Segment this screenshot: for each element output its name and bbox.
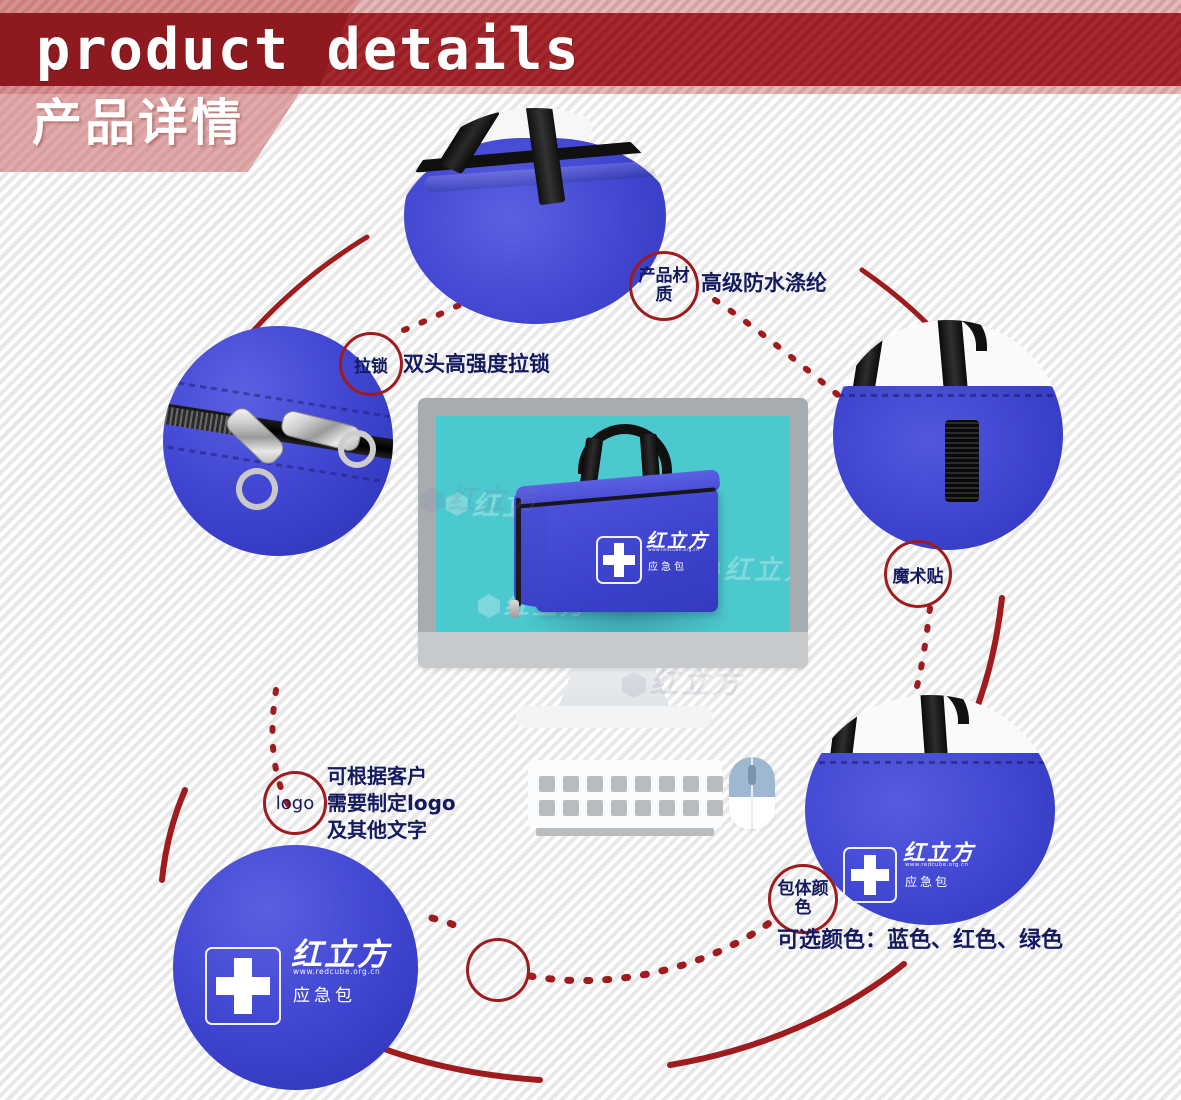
- monitor-chin: [418, 632, 808, 668]
- badge-material: 产品材质: [629, 251, 699, 321]
- badge-zipper: 拉锁: [339, 332, 403, 396]
- callout-photo-velcro: [833, 320, 1063, 550]
- label-logo-line-2: 需要制定logo: [327, 790, 456, 817]
- keyboard-key: [563, 776, 579, 792]
- badge-logo: logo: [263, 771, 327, 835]
- page-title-chinese: 产品详情: [32, 94, 244, 152]
- cross-icon: [596, 536, 642, 584]
- keyboard-key: [683, 776, 699, 792]
- product-reflection: [522, 612, 732, 632]
- fabric-seam: [805, 761, 1055, 764]
- bag-zipper-pull: [510, 600, 519, 618]
- product-detail-page: product details 产品详情: [0, 0, 1181, 1100]
- keyboard-key: [635, 776, 651, 792]
- badge-velcro: 魔术贴: [884, 540, 952, 608]
- velcro-strap: [945, 420, 979, 502]
- keyboard-row-bottom: [539, 800, 723, 816]
- keyboard-key: [707, 776, 723, 792]
- label-material-description: 高级防水涤纶: [701, 267, 827, 297]
- mouse-scroll-wheel: [748, 765, 756, 785]
- decorative-circle: [466, 938, 530, 1002]
- bag-zipper-side: [516, 498, 521, 607]
- keyboard-key: [659, 776, 675, 792]
- brand-url: www.redcube.org.cn: [293, 967, 380, 976]
- page-title-english: product details: [36, 18, 581, 82]
- zipper-pull-two-ring: [338, 430, 376, 468]
- mouse: [729, 757, 775, 829]
- keyboard-key: [587, 776, 603, 792]
- keyboard-key: [707, 800, 723, 816]
- keyboard-key: [587, 800, 603, 816]
- monitor-screen: 红立方 红立方 红立方 红立方: [436, 416, 790, 632]
- keyboard-key: [611, 776, 627, 792]
- callout-photo-color: 红立方 www.redcube.org.cn 应急包: [805, 695, 1055, 925]
- label-zipper-description: 双头高强度拉锁: [403, 348, 550, 378]
- brand-subtitle: 应急包: [293, 981, 356, 1006]
- cross-icon: [205, 947, 281, 1025]
- keyboard-key: [635, 800, 651, 816]
- brand-subtitle: 应急包: [905, 873, 950, 890]
- keyboard-key: [539, 776, 555, 792]
- label-logo-line-3: 及其他文字: [327, 817, 427, 844]
- brand-url: www.redcube.org.cn: [905, 862, 968, 868]
- label-color-description: 可选颜色：蓝色、红色、绿色: [777, 922, 1063, 954]
- watermark-cube-icon: [446, 492, 468, 516]
- fabric-seam: [833, 394, 1063, 397]
- product-bag: 红立方 www.redcube.org.cn 应急包: [536, 488, 718, 612]
- keyboard-key: [563, 800, 579, 816]
- keyboard-key: [659, 800, 675, 816]
- keyboard-key: [539, 800, 555, 816]
- callout-photo-material: [404, 108, 666, 324]
- watermark-cube-icon: [478, 594, 500, 618]
- cross-icon: [843, 847, 897, 903]
- keyboard-key: [611, 800, 627, 816]
- label-logo-line-1: 可根据客户: [327, 763, 427, 790]
- brand-subtitle: 应急包: [648, 558, 687, 573]
- keyboard-foot: [536, 828, 714, 836]
- monitor: 红立方 红立方 红立方 红立方: [418, 398, 808, 668]
- keyboard-row-top: [539, 776, 723, 792]
- callout-photo-logo: 红立方 www.redcube.org.cn 应急包: [173, 845, 418, 1090]
- watermark-text: 红立方: [724, 548, 790, 587]
- keyboard-key: [683, 800, 699, 816]
- keyboard: [528, 760, 722, 828]
- monitor-base: [516, 706, 712, 728]
- brand-url: www.redcube.org.cn: [648, 548, 699, 553]
